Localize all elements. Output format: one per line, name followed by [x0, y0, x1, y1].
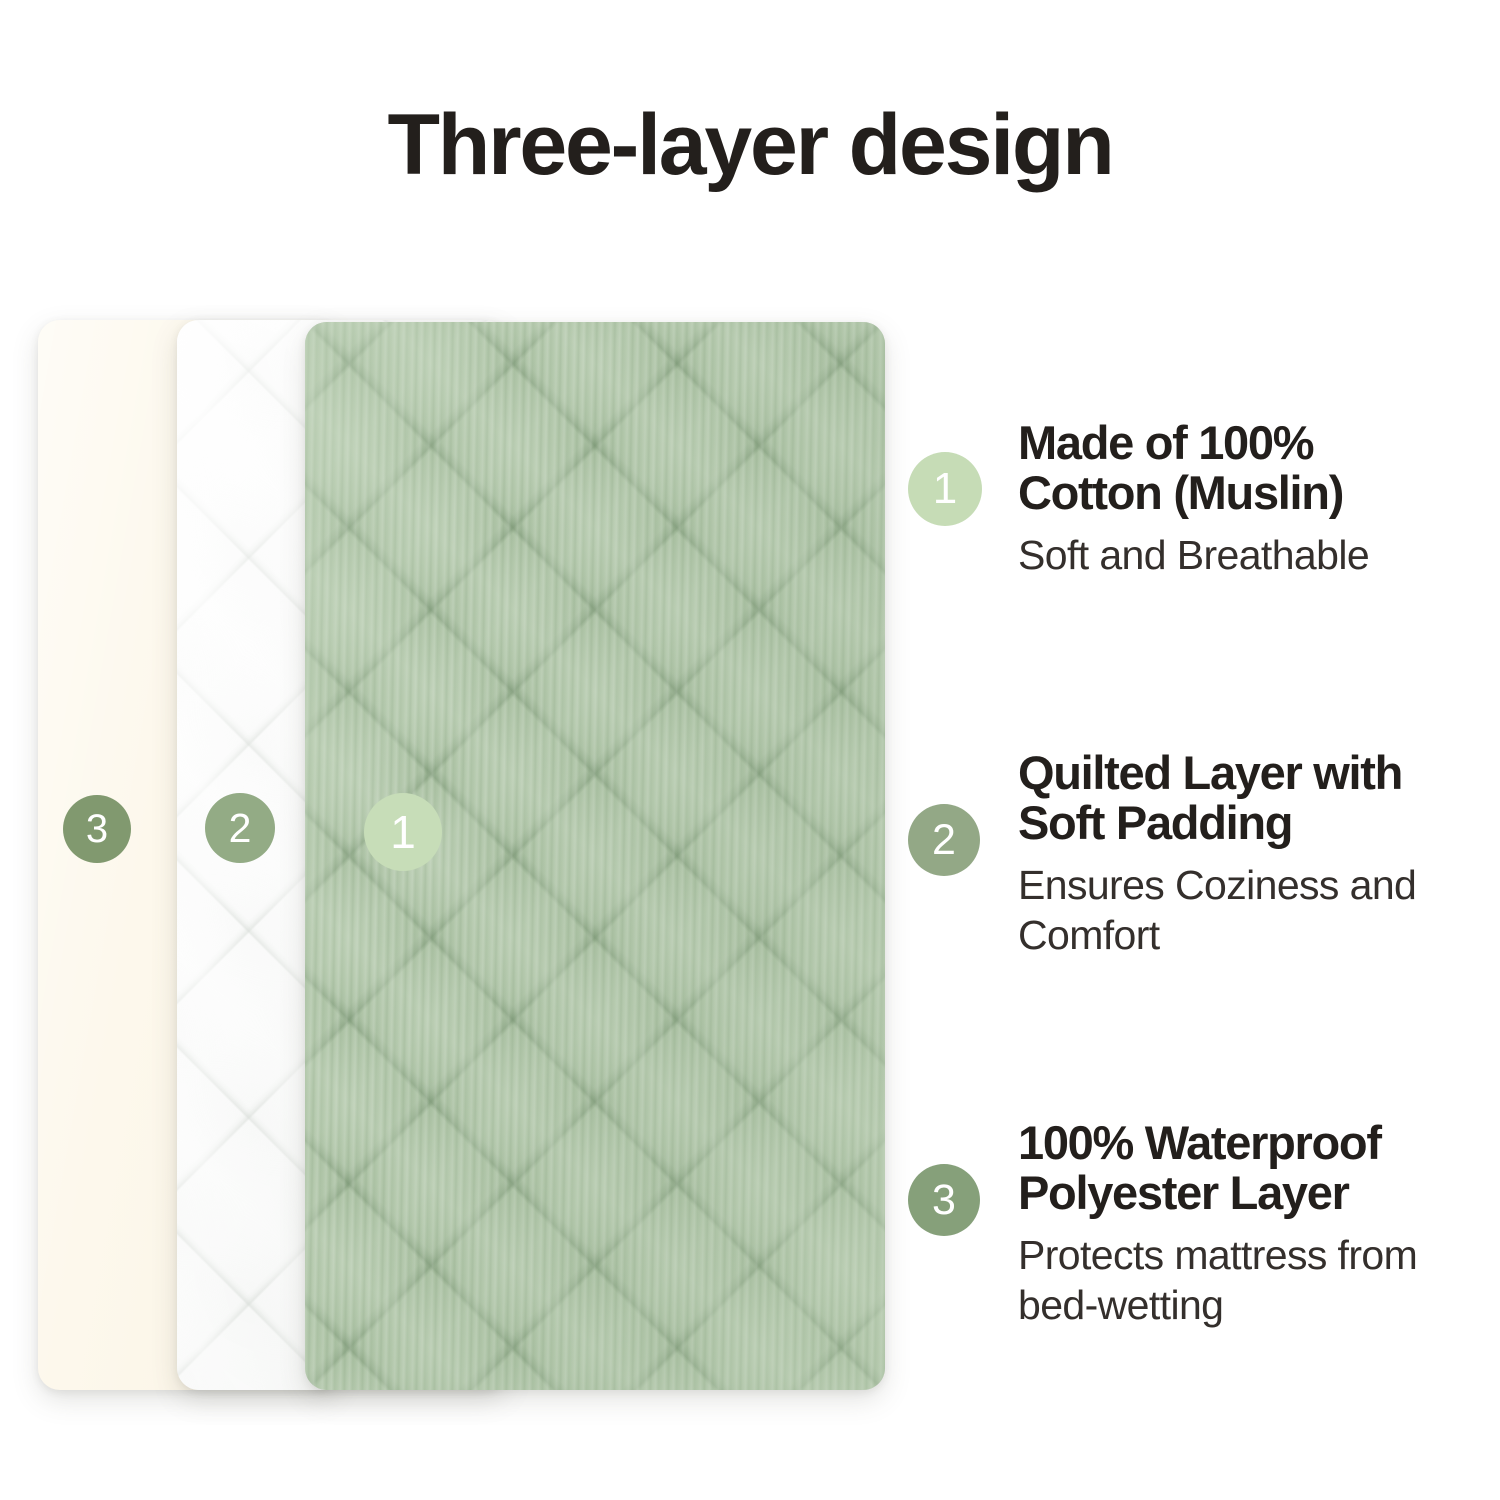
feature-subtitle-1: Soft and Breathable — [1018, 530, 1500, 581]
feature-badge-2: 2 — [908, 804, 980, 876]
feature-title-1: Made of 100% Cotton (Muslin) — [1018, 418, 1500, 518]
feature-text-3: 100% Waterproof Polyester Layer Protects… — [1018, 1118, 1500, 1331]
feature-title-2: Quilted Layer with Soft Padding — [1018, 748, 1500, 848]
feature-badge-3: 3 — [908, 1164, 980, 1236]
feature-badge-1: 1 — [908, 452, 982, 526]
layer-badge-1: 1 — [364, 793, 442, 871]
product-layer-stack: 3 2 1 — [0, 0, 960, 1500]
feature-subtitle-3: Protects mattress from bed-wetting — [1018, 1230, 1500, 1332]
feature-subtitle-2: Ensures Coziness and Comfort — [1018, 860, 1500, 962]
layer-badge-3: 3 — [63, 795, 131, 863]
layer-badge-2: 2 — [205, 793, 275, 863]
feature-text-2: Quilted Layer with Soft Padding Ensures … — [1018, 748, 1500, 961]
feature-list: 1 Made of 100% Cotton (Muslin) Soft and … — [900, 0, 1500, 1500]
feature-title-3: 100% Waterproof Polyester Layer — [1018, 1118, 1500, 1218]
feature-text-1: Made of 100% Cotton (Muslin) Soft and Br… — [1018, 418, 1500, 580]
